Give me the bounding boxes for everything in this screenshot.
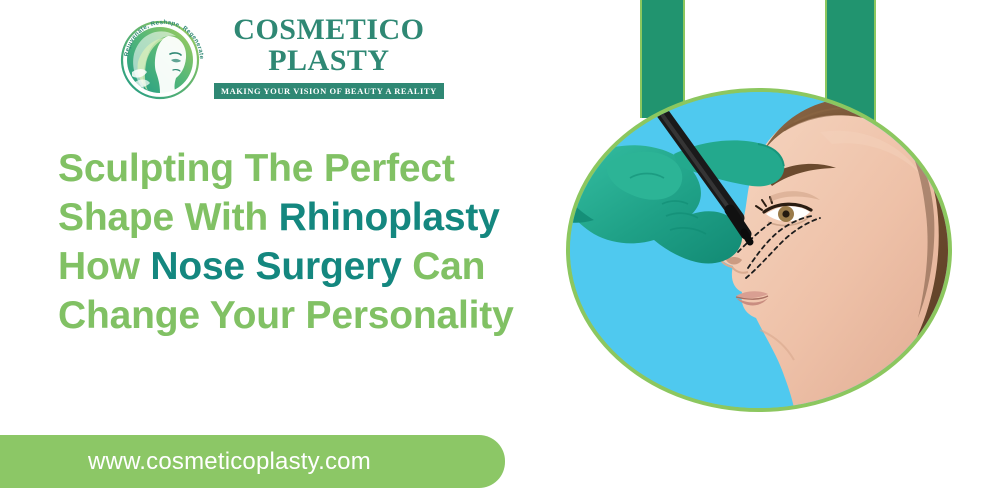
brand-wordmark: COSMETICO PLASTY MAKING YOUR VISION OF B… — [214, 13, 444, 99]
headline-line-3-suffix: Can — [402, 245, 486, 288]
headline-keyword-rhinoplasty: Rhinoplasty — [279, 196, 500, 239]
headline-keyword-nose-surgery: Nose Surgery — [150, 245, 401, 288]
headline-line-2: Shape With Rhinoplasty — [58, 193, 578, 242]
headline-line-1: Sculpting The Perfect — [58, 144, 578, 193]
brand-tagline: MAKING YOUR VISION OF BEAUTY A REALITY — [214, 83, 444, 99]
website-url-text: www.cosmeticoplasty.com — [88, 448, 371, 476]
hero-photo-illustration — [570, 92, 948, 408]
brand-name-line-2: PLASTY — [268, 46, 389, 76]
headline-line-3: How Nose Surgery Can — [58, 242, 578, 291]
headline-line-3-prefix: How — [58, 245, 150, 288]
headline-line-1-text: Sculpting The Perfect — [58, 147, 455, 190]
brand-name-line-1: COSMETICO — [233, 15, 424, 45]
logo-emblem-icon: Rejuvenate, Reshape, Regenerate, Recover… — [114, 10, 206, 102]
website-url-bar[interactable]: www.cosmeticoplasty.com — [0, 435, 505, 488]
headline-line-4-text: Change Your Personality — [58, 294, 514, 337]
decorative-bar-left — [640, 0, 685, 118]
headline-line-4: Change Your Personality — [58, 291, 578, 340]
promotional-banner: Rejuvenate, Reshape, Regenerate, Recover… — [0, 0, 1000, 488]
headline: Sculpting The Perfect Shape With Rhinopl… — [58, 144, 578, 340]
hero-photo — [566, 88, 952, 412]
brand-logo[interactable]: Rejuvenate, Reshape, Regenerate, Recover… — [114, 10, 444, 102]
headline-line-2-prefix: Shape With — [58, 196, 279, 239]
